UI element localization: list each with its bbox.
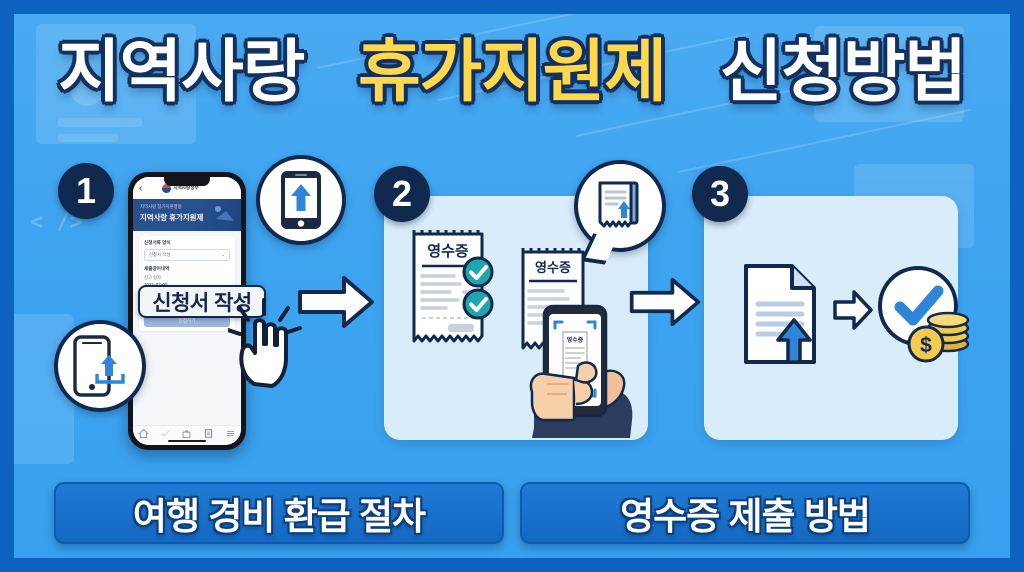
- bag-icon[interactable]: [181, 428, 192, 439]
- document-icon[interactable]: [203, 428, 214, 439]
- check-badge-2: [464, 290, 492, 318]
- form-type-select-value: 신청서 작성: [149, 252, 170, 258]
- form-type-select[interactable]: 신청서 작성 ⌄: [144, 249, 230, 261]
- step-badge-2: 2: [374, 166, 430, 222]
- document-upload-icon: [595, 178, 645, 234]
- flow-arrow-2-to-3: [628, 272, 702, 332]
- banner-refund-process-label: 여행 경비 환급 절차: [133, 486, 425, 540]
- phone-tray-upload-icon: [54, 320, 146, 412]
- title-part-2-highlight: 휴가지원제: [358, 36, 666, 109]
- phone-tray-upload-glyph: [73, 335, 127, 397]
- step-badge-3-number: 3: [710, 176, 730, 212]
- detail-section-label: 세출장이내역: [144, 266, 230, 272]
- receipt-with-checks: 영수증: [408, 228, 494, 348]
- step-badge-2-number: 2: [392, 176, 412, 212]
- banner-receipt-submit-label: 영수증 제출 방법: [620, 486, 870, 540]
- phone-notch: [164, 177, 210, 186]
- receipt-1-title: 영수증: [427, 242, 469, 260]
- form-section-label: 신청서류 양식: [144, 240, 230, 246]
- receipt-2-title: 영수증: [535, 260, 571, 275]
- back-icon[interactable]: ‹: [139, 183, 142, 194]
- banner-refund-process[interactable]: 여행 경비 환급 절차: [54, 482, 504, 544]
- page-title: 지역사랑 휴가지원제 신청방법: [0, 36, 1024, 109]
- hand-scanning-receipt: 영수증: [518, 280, 646, 440]
- phone-upload-icon: [256, 155, 346, 245]
- home-icon[interactable]: [138, 428, 149, 439]
- flow-arrow-1-to-2: [296, 272, 376, 332]
- field-1-label: 신고 일자: [144, 275, 230, 281]
- app-hero-banner: 지역사랑 참가지원행정 지역사랑 휴가지원제: [133, 199, 241, 231]
- bg-decor-bar: [58, 134, 118, 142]
- coin-currency-symbol: $: [920, 334, 932, 357]
- step-badge-1-number: 1: [76, 173, 96, 209]
- check-icon[interactable]: [160, 428, 171, 439]
- scan-receipt-title: 영수증: [567, 336, 584, 344]
- infographic-root: < /> 지역사랑 휴가지원제 신청방법 1 2 3: [0, 0, 1024, 572]
- step-badge-3: 3: [692, 166, 748, 222]
- app-form-body: 신청서류 양식 신청서 작성 ⌄ 세출장이내역 신고 일자 2021-02-05…: [133, 231, 241, 425]
- title-part-3: 신청방법: [720, 36, 966, 109]
- app-bottom-nav: [133, 425, 241, 445]
- hand-click-cursor: [228, 298, 302, 390]
- approved-with-coins: $: [872, 262, 972, 368]
- title-part-1: 지역사랑: [58, 36, 304, 109]
- receipt-upload-bubble: [574, 160, 666, 252]
- step-badge-1: 1: [58, 163, 114, 219]
- home-indicator: [168, 440, 206, 442]
- check-badge-1: [464, 258, 492, 286]
- document-upload: [740, 262, 824, 368]
- chevron-down-icon: ⌄: [221, 252, 225, 258]
- menu-icon[interactable]: [225, 428, 236, 439]
- small-right-arrow: [832, 288, 874, 332]
- hero-decor-icon: [214, 205, 236, 223]
- bg-decor-bar: [58, 118, 142, 127]
- phone-upload-glyph: [275, 169, 327, 231]
- banner-receipt-submit[interactable]: 영수증 제출 방법: [520, 482, 970, 544]
